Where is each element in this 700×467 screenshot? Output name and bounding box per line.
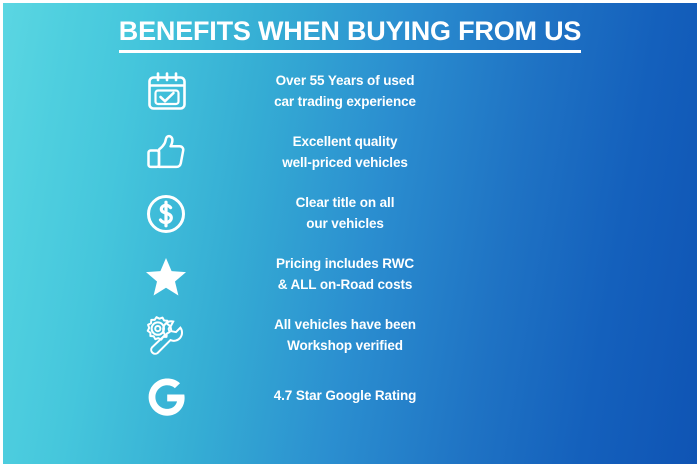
benefit-text-line: 4.7 Star Google Rating bbox=[233, 386, 457, 407]
benefit-icon-cell bbox=[3, 250, 233, 300]
star-icon bbox=[141, 250, 191, 300]
thumbs-up-icon bbox=[141, 128, 191, 178]
benefit-item: 4.7 Star Google Rating bbox=[3, 366, 697, 427]
benefit-text-line: Excellent quality bbox=[233, 132, 457, 153]
benefit-item: Over 55 Years of used car trading experi… bbox=[3, 61, 697, 122]
benefit-text-line: Pricing includes RWC bbox=[233, 254, 457, 275]
benefit-text: Pricing includes RWC & ALL on-Road costs bbox=[233, 254, 697, 296]
dollar-circle-icon bbox=[141, 189, 191, 239]
benefit-text-line: & ALL on-Road costs bbox=[233, 275, 457, 296]
benefit-text-line: car trading experience bbox=[233, 92, 457, 113]
benefit-icon-cell bbox=[3, 68, 233, 116]
benefit-text: Clear title on all our vehicles bbox=[233, 193, 697, 235]
benefits-list: Over 55 Years of used car trading experi… bbox=[3, 61, 697, 427]
benefit-item: Clear title on all our vehicles bbox=[3, 183, 697, 244]
benefit-text-line: Workshop verified bbox=[233, 336, 457, 357]
benefit-item: All vehicles have been Workshop verified bbox=[3, 305, 697, 366]
benefit-text-line: our vehicles bbox=[233, 214, 457, 235]
benefit-icon-cell bbox=[3, 373, 233, 421]
title-container: BENEFITS WHEN BUYING FROM US bbox=[3, 17, 697, 53]
benefit-icon-cell bbox=[3, 311, 233, 361]
gear-wrench-icon bbox=[139, 311, 191, 361]
benefits-banner: BENEFITS WHEN BUYING FROM US Over 55 Yea… bbox=[0, 0, 700, 467]
page-title: BENEFITS WHEN BUYING FROM US bbox=[119, 17, 581, 53]
benefit-text: Over 55 Years of used car trading experi… bbox=[233, 71, 697, 113]
benefit-item: Excellent quality well-priced vehicles bbox=[3, 122, 697, 183]
calendar-check-icon bbox=[143, 68, 191, 116]
benefit-text-line: well-priced vehicles bbox=[233, 153, 457, 174]
benefit-icon-cell bbox=[3, 128, 233, 178]
benefit-text-line: All vehicles have been bbox=[233, 315, 457, 336]
benefit-text: Excellent quality well-priced vehicles bbox=[233, 132, 697, 174]
benefit-text: All vehicles have been Workshop verified bbox=[233, 315, 697, 357]
benefit-text-line: Over 55 Years of used bbox=[233, 71, 457, 92]
benefit-item: Pricing includes RWC & ALL on-Road costs bbox=[3, 244, 697, 305]
benefit-text: 4.7 Star Google Rating bbox=[233, 386, 697, 407]
benefit-text-line: Clear title on all bbox=[233, 193, 457, 214]
benefit-icon-cell bbox=[3, 189, 233, 239]
google-g-icon bbox=[143, 373, 191, 421]
